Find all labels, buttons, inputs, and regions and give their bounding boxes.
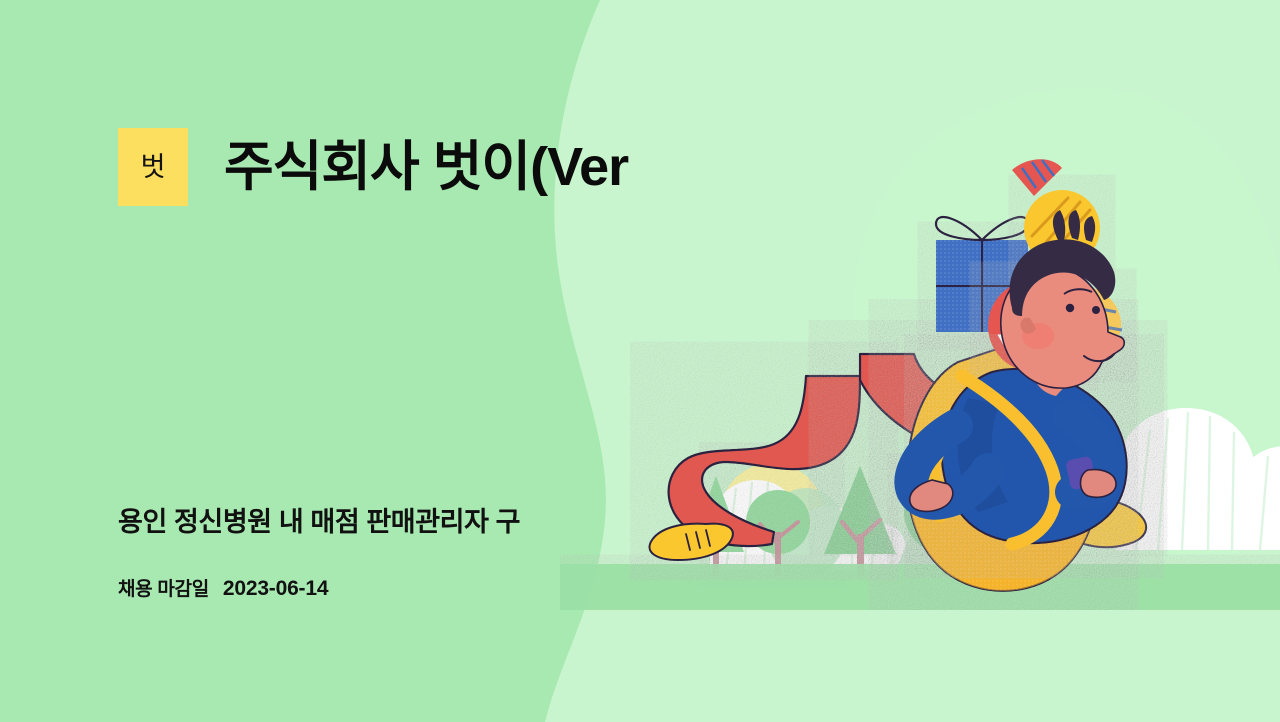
deadline-row: 채용 마감일 2023-06-14 bbox=[118, 574, 328, 601]
runner-front-shoe bbox=[1056, 500, 1146, 547]
company-logo-badge: 벗 bbox=[118, 128, 188, 206]
job-posting-card: 벗 주식회사 벗이(Ver 용인 정신병원 내 매점 판매관리자 구 채용 마감… bbox=[0, 0, 1280, 722]
runner-back-leg bbox=[669, 376, 860, 546]
gift-confetti-wedge bbox=[1012, 159, 1062, 196]
company-name: 주식회사 벗이(Ver bbox=[224, 139, 628, 196]
runner-back-shoe bbox=[650, 524, 733, 560]
runner-front-leg bbox=[860, 354, 1116, 522]
sack-strap bbox=[962, 376, 1056, 544]
company-logo-text: 벗 bbox=[141, 154, 166, 181]
company-header: 벗 주식회사 벗이(Ver bbox=[118, 124, 628, 210]
cheek-blush bbox=[1022, 323, 1054, 349]
left-cloud-cluster bbox=[710, 480, 906, 570]
runner-head bbox=[1001, 210, 1125, 396]
runner-figure bbox=[650, 159, 1147, 600]
deadline-label: 채용 마감일 bbox=[118, 574, 209, 601]
gift-box-blue bbox=[936, 217, 1028, 332]
right-cloud-cluster bbox=[1116, 408, 1280, 550]
running-delivery-person-illustration bbox=[560, 140, 1280, 610]
runner-torso bbox=[941, 369, 1126, 543]
gift-cylinder-striped bbox=[1046, 285, 1122, 366]
tree-row bbox=[560, 466, 1280, 610]
gift-items bbox=[936, 159, 1122, 372]
ground-strip bbox=[560, 564, 1280, 610]
gift-ball-yellow bbox=[1024, 190, 1100, 266]
gift-sack bbox=[907, 340, 1108, 600]
job-title: 용인 정신병원 내 매점 판매관리자 구 bbox=[118, 500, 520, 539]
runner-back-arm bbox=[910, 426, 988, 511]
sun-shape bbox=[720, 463, 824, 567]
runner-front-arm bbox=[1065, 416, 1116, 497]
deadline-date: 2023-06-14 bbox=[223, 577, 328, 601]
background-blob bbox=[0, 0, 1280, 722]
gift-ball-red bbox=[988, 280, 1080, 372]
